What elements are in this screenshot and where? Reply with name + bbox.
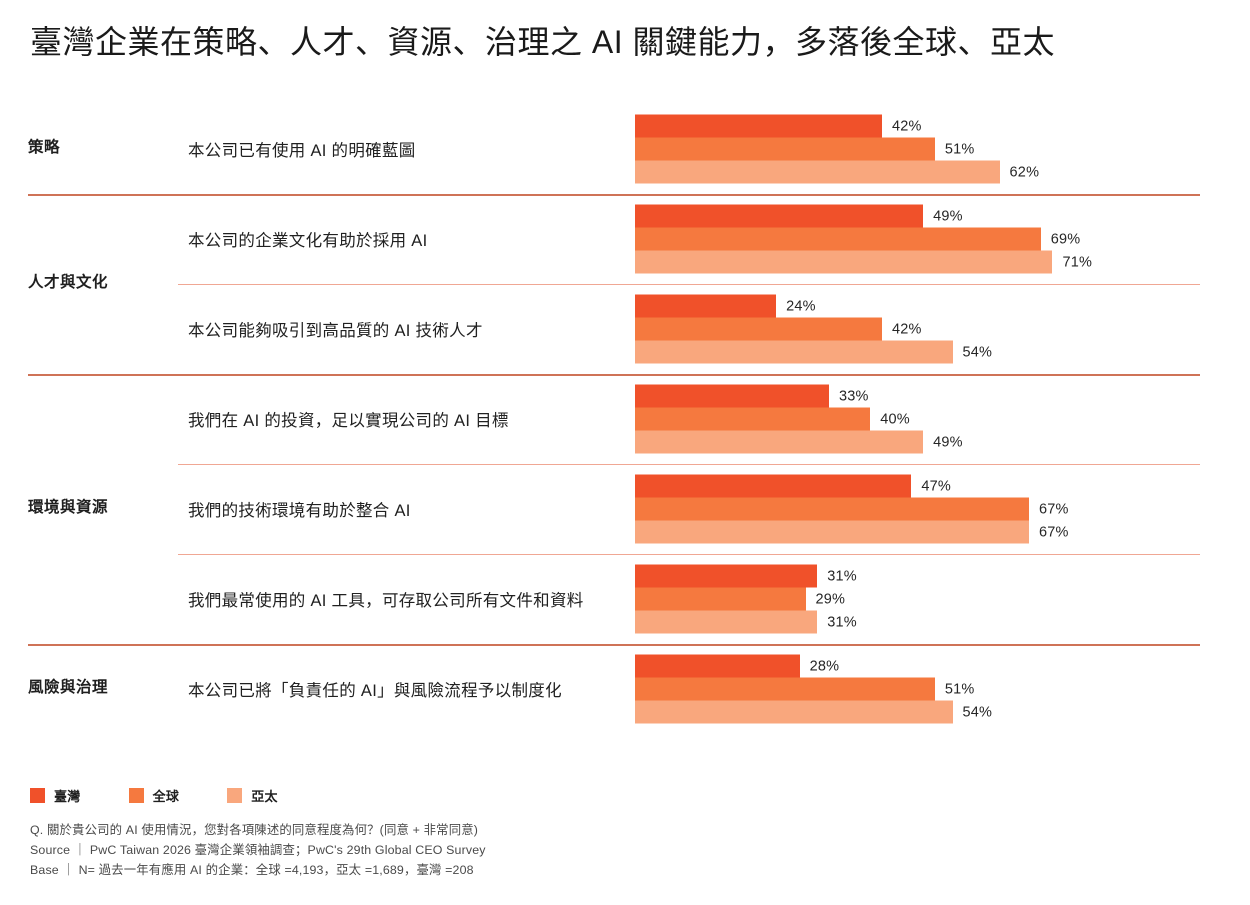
category-block: 策略本公司已有使用 AI 的明確藍圖42%51%62% — [0, 104, 1250, 194]
bar-value-label: 71% — [1062, 254, 1092, 270]
bar-亞太 — [635, 611, 817, 634]
category-block: 環境與資源我們在 AI 的投資，足以實現公司的 AI 目標33%40%49%我們… — [0, 374, 1250, 644]
footnote-source: Source ｜ PwC Taiwan 2026 臺灣企業領袖調查；PwC's … — [30, 840, 486, 860]
bar-亞太 — [635, 521, 1029, 544]
bar-臺灣 — [635, 205, 923, 228]
bar-全球 — [635, 588, 806, 611]
bar-track: 51% — [635, 138, 1215, 161]
bar-value-label: 51% — [945, 141, 975, 157]
bar-全球 — [635, 408, 870, 431]
bar-track: 31% — [635, 611, 1215, 634]
bar-track: 29% — [635, 588, 1215, 611]
bar-track: 28% — [635, 655, 1215, 678]
bar-value-label: 31% — [827, 614, 857, 630]
bar-value-label: 62% — [1010, 164, 1040, 180]
category-separator — [28, 194, 1200, 196]
bar-全球 — [635, 228, 1041, 251]
bar-臺灣 — [635, 475, 911, 498]
legend-swatch-icon — [129, 788, 144, 803]
bar-group: 42%51%62% — [635, 115, 1215, 184]
statement-label: 我們的技術環境有助於整合 AI — [188, 497, 411, 521]
category-block: 風險與治理本公司已將「負責任的 AI」與風險流程予以制度化28%51%54% — [0, 644, 1250, 734]
bar-track: 67% — [635, 498, 1215, 521]
bar-track: 31% — [635, 565, 1215, 588]
bar-value-label: 54% — [963, 704, 993, 720]
bar-value-label: 67% — [1039, 524, 1069, 540]
statement-label: 本公司已有使用 AI 的明確藍圖 — [188, 137, 416, 161]
bar-臺灣 — [635, 385, 829, 408]
statement-label: 本公司已將「負責任的 AI」與風險流程予以制度化 — [188, 677, 562, 701]
legend-item-臺灣[interactable]: 臺灣 — [30, 786, 81, 805]
chart-legend: 臺灣全球亞太 — [30, 786, 326, 805]
bar-track: 47% — [635, 475, 1215, 498]
legend-item-全球[interactable]: 全球 — [129, 786, 180, 805]
statement-row: 本公司的企業文化有助於採用 AI49%69%71% — [0, 194, 1250, 284]
bar-track: 69% — [635, 228, 1215, 251]
legend-label: 亞太 — [251, 786, 278, 805]
bar-臺灣 — [635, 115, 882, 138]
bar-track: 42% — [635, 115, 1215, 138]
category-separator — [28, 374, 1200, 376]
bar-track: 71% — [635, 251, 1215, 274]
bar-track: 49% — [635, 205, 1215, 228]
legend-label: 臺灣 — [54, 786, 81, 805]
bar-track: 62% — [635, 161, 1215, 184]
bar-group: 28%51%54% — [635, 655, 1215, 724]
footnote-question: Q. 關於貴公司的 AI 使用情況，您對各項陳述的同意程度為何？(同意 + 非常… — [30, 820, 486, 840]
bar-value-label: 29% — [816, 591, 846, 607]
bar-value-label: 28% — [810, 658, 840, 674]
bar-全球 — [635, 138, 935, 161]
bar-track: 33% — [635, 385, 1215, 408]
bar-value-label: 69% — [1051, 231, 1081, 247]
legend-label: 全球 — [153, 786, 180, 805]
statement-row: 我們的技術環境有助於整合 AI47%67%67% — [0, 464, 1250, 554]
statement-label: 本公司的企業文化有助於採用 AI — [188, 227, 427, 251]
bar-group: 31%29%31% — [635, 565, 1215, 634]
legend-swatch-icon — [227, 788, 242, 803]
bar-亞太 — [635, 341, 953, 364]
bar-全球 — [635, 318, 882, 341]
legend-swatch-icon — [30, 788, 45, 803]
statement-label: 本公司能夠吸引到高品質的 AI 技術人才 — [188, 317, 483, 341]
bar-value-label: 67% — [1039, 501, 1069, 517]
statement-row: 本公司能夠吸引到高品質的 AI 技術人才24%42%54% — [0, 284, 1250, 374]
bar-臺灣 — [635, 655, 800, 678]
bar-全球 — [635, 678, 935, 701]
bar-track: 42% — [635, 318, 1215, 341]
bar-value-label: 24% — [786, 298, 816, 314]
bar-track: 40% — [635, 408, 1215, 431]
bar-value-label: 31% — [827, 568, 857, 584]
bar-track: 49% — [635, 431, 1215, 454]
bar-value-label: 33% — [839, 388, 869, 404]
bar-亞太 — [635, 431, 923, 454]
statement-label: 我們最常使用的 AI 工具，可存取公司所有文件和資料 — [188, 587, 584, 611]
statement-row: 本公司已有使用 AI 的明確藍圖42%51%62% — [0, 104, 1250, 194]
bar-track: 67% — [635, 521, 1215, 544]
footnote-base: Base ｜ N= 過去一年有應用 AI 的企業：全球 =4,193，亞太 =1… — [30, 860, 486, 880]
legend-item-亞太[interactable]: 亞太 — [227, 786, 278, 805]
bar-track: 51% — [635, 678, 1215, 701]
bar-value-label: 47% — [921, 478, 951, 494]
statement-row: 我們在 AI 的投資，足以實現公司的 AI 目標33%40%49% — [0, 374, 1250, 464]
bar-track: 24% — [635, 295, 1215, 318]
bar-group: 33%40%49% — [635, 385, 1215, 454]
statement-label: 我們在 AI 的投資，足以實現公司的 AI 目標 — [188, 407, 509, 431]
statement-row: 本公司已將「負責任的 AI」與風險流程予以制度化28%51%54% — [0, 644, 1250, 734]
bar-group: 49%69%71% — [635, 205, 1215, 274]
bar-亞太 — [635, 701, 953, 724]
grouped-bar-chart: 策略本公司已有使用 AI 的明確藍圖42%51%62%人才與文化本公司的企業文化… — [0, 104, 1250, 764]
bar-value-label: 51% — [945, 681, 975, 697]
category-separator — [28, 644, 1200, 646]
bar-value-label: 42% — [892, 321, 922, 337]
bar-group: 47%67%67% — [635, 475, 1215, 544]
page-title: 臺灣企業在策略、人才、資源、治理之 AI 關鍵能力，多落後全球、亞太 — [30, 22, 1220, 62]
statement-row: 我們最常使用的 AI 工具，可存取公司所有文件和資料31%29%31% — [0, 554, 1250, 644]
bar-臺灣 — [635, 295, 776, 318]
footnotes: Q. 關於貴公司的 AI 使用情況，您對各項陳述的同意程度為何？(同意 + 非常… — [30, 820, 486, 880]
bar-value-label: 49% — [933, 208, 963, 224]
bar-全球 — [635, 498, 1029, 521]
bar-value-label: 40% — [880, 411, 910, 427]
bar-group: 24%42%54% — [635, 295, 1215, 364]
bar-臺灣 — [635, 565, 817, 588]
bar-亞太 — [635, 251, 1052, 274]
bar-value-label: 54% — [963, 344, 993, 360]
bar-亞太 — [635, 161, 1000, 184]
category-block: 人才與文化本公司的企業文化有助於採用 AI49%69%71%本公司能夠吸引到高品… — [0, 194, 1250, 374]
bar-value-label: 49% — [933, 434, 963, 450]
bar-track: 54% — [635, 701, 1215, 724]
bar-track: 54% — [635, 341, 1215, 364]
bar-value-label: 42% — [892, 118, 922, 134]
